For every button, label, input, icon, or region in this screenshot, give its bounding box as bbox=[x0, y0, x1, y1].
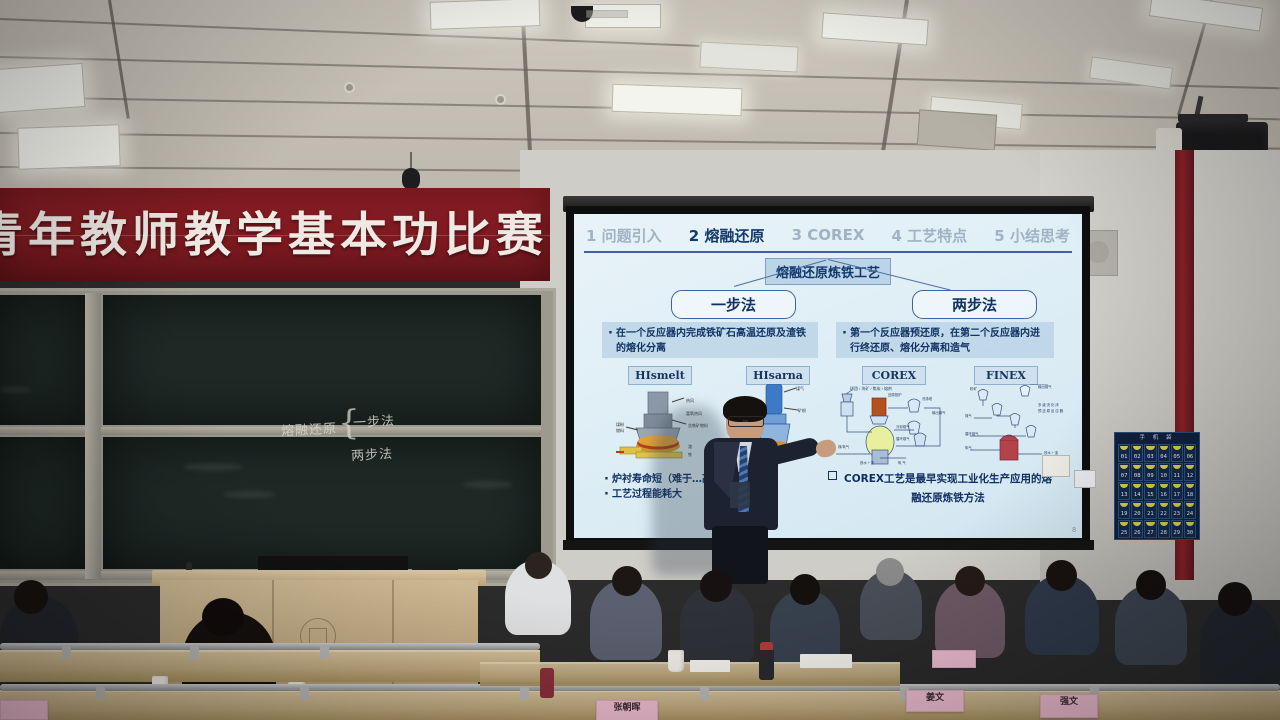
audience-head bbox=[790, 574, 820, 605]
ceiling-light bbox=[821, 12, 929, 45]
svg-text:煤气: 煤气 bbox=[796, 385, 804, 391]
ceiling-light bbox=[699, 41, 798, 72]
svg-text:煤粉: 煤粉 bbox=[616, 421, 624, 427]
svg-text:洗涤塔: 洗涤塔 bbox=[922, 396, 933, 401]
pocket-slot-01: 01 bbox=[1118, 444, 1130, 462]
nav-label-2: 熔融还原 bbox=[704, 227, 764, 245]
svg-text:煤气: 煤气 bbox=[965, 413, 972, 418]
svg-text:多 级 流 化 床: 多 级 流 化 床 bbox=[1038, 402, 1059, 407]
pocket-slot-03: 03 bbox=[1144, 444, 1156, 462]
pocket-slot-13: 13 bbox=[1118, 482, 1130, 500]
blackboard: 熔融还原 { 一步法 两步法 bbox=[0, 288, 556, 586]
audience-head bbox=[1136, 570, 1166, 600]
tag-hisarna: HIsarna bbox=[746, 366, 810, 385]
pocket-slot-15: 15 bbox=[1144, 482, 1156, 500]
finex-flowsheet: 粉矿 输出煤气 多 级 流 化 床 预 还 原 反 应 器 煤气 bbox=[964, 384, 1068, 466]
pocket-slot-10: 10 bbox=[1158, 463, 1170, 481]
nav-num-1: 1 bbox=[586, 227, 596, 245]
audience-head bbox=[612, 566, 642, 596]
ceiling-vent bbox=[586, 10, 628, 18]
svg-text:输出煤气: 输出煤气 bbox=[932, 410, 946, 415]
nav-item-4[interactable]: 4 工艺特点 bbox=[892, 225, 968, 246]
nav-label-1: 问题引入 bbox=[602, 227, 662, 245]
ceiling-light bbox=[1149, 0, 1263, 32]
right-note-text: COREX工艺是最早实现工业化生产应用的熔融还原炼铁方法 bbox=[844, 473, 1052, 504]
left-description: 在一个反应器内完成铁矿石高温还原及渣铁的熔化分离 bbox=[602, 322, 818, 358]
pocket-slot-04: 04 bbox=[1158, 444, 1170, 462]
ceiling-light bbox=[0, 63, 85, 113]
note-bullet-square bbox=[828, 471, 837, 480]
pocket-slot-16: 16 bbox=[1158, 482, 1170, 500]
right-note: COREX工艺是最早实现工业化生产应用的熔融还原炼铁方法 bbox=[842, 470, 1054, 508]
screen-bottom-bar bbox=[563, 540, 1094, 550]
nav-item-1[interactable]: 1 问题引入 bbox=[586, 225, 662, 246]
pocket-slot-19: 19 bbox=[1118, 501, 1130, 519]
svg-text:循环煤气: 循环煤气 bbox=[896, 436, 910, 441]
pocket-slot-29: 29 bbox=[1171, 520, 1183, 538]
nav-item-5[interactable]: 5 小结思考 bbox=[994, 225, 1070, 246]
pocket-slot-12: 12 bbox=[1184, 463, 1196, 481]
pocket-slot-11: 11 bbox=[1171, 463, 1183, 481]
thermos bbox=[540, 668, 554, 698]
audience-head bbox=[525, 552, 552, 579]
tag-corex: COREX bbox=[862, 366, 926, 385]
pocket-slot-24: 24 bbox=[1184, 501, 1196, 519]
pocket-slot-07: 07 bbox=[1118, 463, 1130, 481]
svg-text:燃料: 燃料 bbox=[616, 427, 624, 433]
name-placard bbox=[932, 650, 976, 668]
glasses-icon bbox=[728, 416, 764, 427]
phone-pocket-chart: 手 机 袋 0102030405060708091011121314151617… bbox=[1114, 432, 1200, 540]
presenter bbox=[690, 398, 810, 583]
pocket-slot-06: 06 bbox=[1184, 444, 1196, 462]
thermos bbox=[759, 648, 774, 680]
svg-text:煤/氧气: 煤/氧气 bbox=[838, 444, 850, 449]
audience-head bbox=[876, 558, 904, 586]
pocket-slot-20: 20 bbox=[1131, 501, 1143, 519]
tag-finex: FINEX bbox=[974, 366, 1038, 385]
svg-text:氧气: 氧气 bbox=[965, 445, 972, 450]
paper-stack bbox=[690, 660, 730, 672]
branch-two-step: 两步法 bbox=[912, 290, 1037, 319]
desk-row bbox=[0, 650, 540, 682]
nav-item-3[interactable]: 3 COREX bbox=[792, 226, 865, 244]
slide-page-number: 8 bbox=[1072, 527, 1076, 534]
chalk-text-main: 熔融还原 bbox=[281, 418, 338, 440]
tag-hismelt: HIsmelt bbox=[628, 366, 692, 385]
pocket-slot-21: 21 bbox=[1144, 501, 1156, 519]
svg-text:冷却煤气: 冷却煤气 bbox=[896, 424, 910, 429]
svg-text:球团 / 块矿 / 焦炭 / 熔剂: 球团 / 块矿 / 焦炭 / 熔剂 bbox=[850, 385, 892, 391]
pocket-slot-26: 26 bbox=[1131, 520, 1143, 538]
ceiling-light bbox=[612, 84, 743, 117]
name-placard: 张朝晖 bbox=[596, 700, 658, 720]
pocket-slot-25: 25 bbox=[1118, 520, 1130, 538]
svg-text:铁水 + 渣: 铁水 + 渣 bbox=[860, 460, 875, 465]
pocket-slot-22: 22 bbox=[1158, 501, 1170, 519]
pocket-chart-grid: 0102030405060708091011121314151617181920… bbox=[1118, 444, 1196, 538]
sprinkler-icon bbox=[497, 96, 504, 103]
pocket-slot-08: 08 bbox=[1131, 463, 1143, 481]
nav-num-5: 5 bbox=[994, 227, 1004, 245]
pocket-slot-18: 18 bbox=[1184, 482, 1196, 500]
banner-text: 青年教师教学基本功比赛 bbox=[0, 196, 536, 265]
paper-cup bbox=[668, 650, 684, 672]
nav-item-2[interactable]: 2 熔融还原 bbox=[689, 225, 765, 246]
pocket-slot-02: 02 bbox=[1131, 444, 1143, 462]
audience-head bbox=[1046, 560, 1077, 591]
pocket-slot-14: 14 bbox=[1131, 482, 1143, 500]
audience-head bbox=[14, 580, 48, 614]
pocket-slot-17: 17 bbox=[1171, 482, 1183, 500]
presenter-badge bbox=[730, 482, 750, 508]
ac-vent bbox=[917, 109, 997, 150]
pocket-slot-27: 27 bbox=[1144, 520, 1156, 538]
name-placard bbox=[0, 700, 48, 720]
hanging-speaker bbox=[402, 168, 420, 190]
nav-num-3: 3 bbox=[792, 226, 802, 244]
lecture-hall-photo: 青年教师教学基本功比赛 熔融还原 { 一步法 两步法 1 问题引入 2 bbox=[0, 0, 1280, 720]
audience-head bbox=[1218, 582, 1252, 616]
projection-screen: 1 问题引入 2 熔融还原 3 COREX 4 工艺特点 5 小结思考 熔融还原… bbox=[574, 214, 1082, 538]
pocket-slot-30: 30 bbox=[1184, 520, 1196, 538]
sprinkler-icon bbox=[346, 84, 353, 91]
nav-num-2: 2 bbox=[689, 227, 699, 245]
audience-head bbox=[700, 570, 732, 602]
wall-notice-small bbox=[1074, 470, 1096, 488]
ceiling-light bbox=[17, 124, 120, 170]
ceiling-light bbox=[430, 0, 541, 30]
chalk-text-branch-2: 两步法 bbox=[351, 443, 394, 464]
audience-head bbox=[202, 598, 244, 636]
nav-num-4: 4 bbox=[892, 227, 902, 245]
chalk-text-branch-1: 一步法 bbox=[353, 410, 396, 431]
corex-flowsheet: 球团 / 块矿 / 焦炭 / 熔剂 还原竖炉 洗涤塔 输出煤气 bbox=[836, 384, 956, 466]
right-description: 第一个反应器预还原，在第二个反应器内进行终还原、熔化分离和造气 bbox=[836, 322, 1054, 358]
pocket-slot-23: 23 bbox=[1171, 501, 1183, 519]
svg-text:预 还 原 反 应 器: 预 还 原 反 应 器 bbox=[1038, 408, 1064, 413]
name-placard: 强文 bbox=[1040, 694, 1098, 718]
name-placard: 姜文 bbox=[906, 690, 964, 712]
slide-nav: 1 问题引入 2 熔融还原 3 COREX 4 工艺特点 5 小结思考 bbox=[582, 220, 1074, 250]
nav-label-3: COREX bbox=[807, 226, 864, 244]
audience-head bbox=[955, 566, 985, 596]
pocket-slot-05: 05 bbox=[1171, 444, 1183, 462]
thermos-lid bbox=[760, 642, 773, 650]
svg-text:循环煤气: 循环煤气 bbox=[965, 431, 979, 436]
slide-nav-rule bbox=[584, 251, 1072, 253]
paper-stack bbox=[800, 654, 852, 668]
svg-text:氧 气: 氧 气 bbox=[898, 460, 906, 465]
svg-text:输出煤气: 输出煤气 bbox=[1038, 384, 1052, 389]
pocket-slot-28: 28 bbox=[1158, 520, 1170, 538]
pocket-slot-09: 09 bbox=[1144, 463, 1156, 481]
svg-text:还原竖炉: 还原竖炉 bbox=[888, 392, 902, 397]
nav-label-4: 工艺特点 bbox=[907, 227, 967, 245]
competition-banner: 青年教师教学基本功比赛 bbox=[0, 188, 550, 281]
nav-label-5: 小结思考 bbox=[1010, 227, 1070, 245]
wall-notice bbox=[1042, 455, 1070, 477]
svg-text:粉矿: 粉矿 bbox=[970, 386, 978, 391]
pocket-chart-title: 手 机 袋 bbox=[1118, 436, 1196, 442]
branch-one-step: 一步法 bbox=[671, 290, 796, 319]
